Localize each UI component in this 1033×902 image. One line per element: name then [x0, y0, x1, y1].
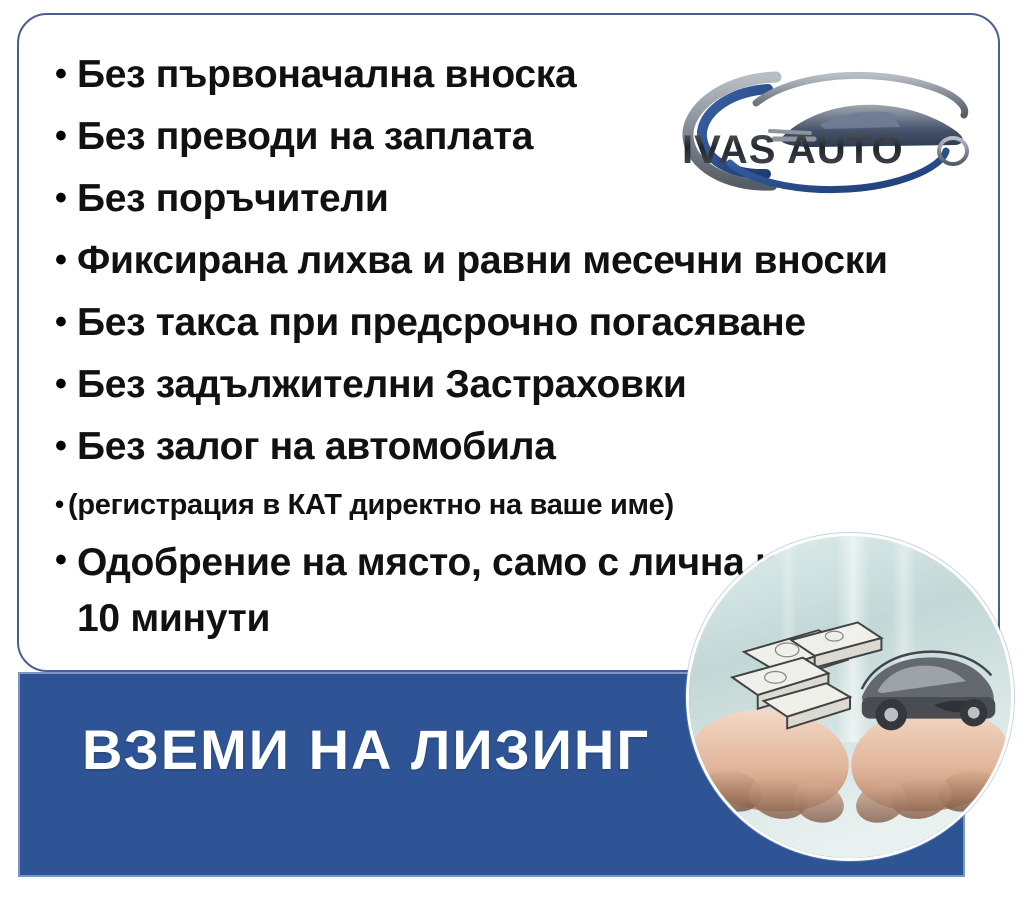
bullet-icon: • — [55, 359, 77, 401]
list-item-label: Без залог на автомобила — [77, 421, 556, 473]
list-item: • Без задължителни Застраховки — [55, 359, 1005, 415]
cta-headline: ВЗЕМИ НА ЛИЗИНГ — [82, 720, 650, 780]
list-item-label: Без такса при предсрочно погасяване — [77, 297, 806, 349]
list-item: • Без такса при предсрочно погасяване — [55, 297, 1005, 353]
ivas-auto-logo: IVAS AUTO — [664, 59, 984, 199]
bullet-icon: • — [55, 535, 77, 577]
list-item-label: Без първоначална вноска — [77, 49, 576, 101]
list-item-label: Без преводи на заплата — [77, 111, 533, 163]
list-item-note: • (регистрация в КАТ директно на ваше им… — [55, 483, 1005, 529]
bullet-icon: • — [55, 235, 77, 277]
advertisement-poster: • Без първоначална вноска • Без преводи … — [0, 0, 1033, 902]
list-item: • Без залог на автомобила — [55, 421, 1005, 477]
bullet-icon: • — [55, 173, 77, 215]
bullet-icon: • — [55, 421, 77, 463]
list-item: • Фиксирана лихва и равни месечни вноски — [55, 235, 1005, 291]
list-item-label: Фиксирана лихва и равни месечни вноски — [77, 235, 888, 287]
list-item-label: Без поръчители — [77, 173, 389, 225]
list-item-label: Без задължителни Застраховки — [77, 359, 687, 411]
bullet-icon: • — [55, 49, 77, 91]
hands-holding-money-and-car-photo — [686, 533, 1014, 861]
bullet-icon: • — [55, 483, 68, 517]
bullet-icon: • — [55, 111, 77, 153]
list-item-label: (регистрация в КАТ директно на ваше име) — [68, 483, 674, 527]
bullet-icon: • — [55, 297, 77, 339]
logo-wordmark: IVAS AUTO — [682, 128, 904, 172]
